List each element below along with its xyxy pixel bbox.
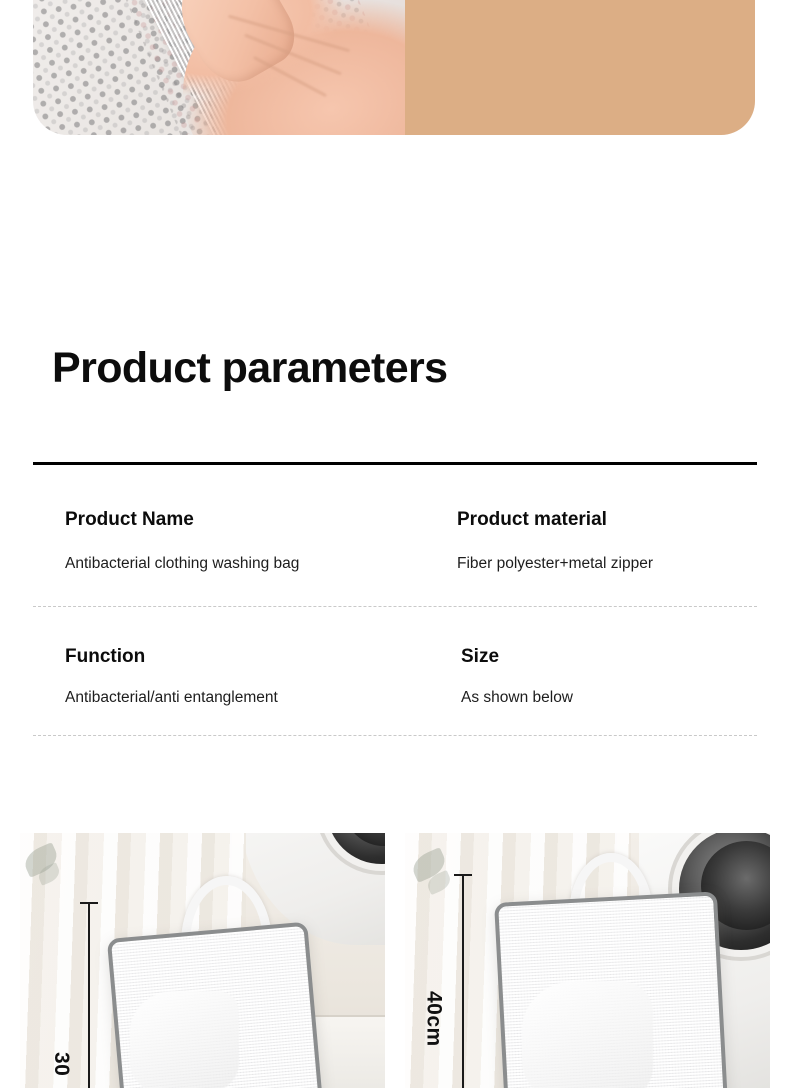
dimension-line-right: [462, 874, 464, 1088]
param-key-product-material: Product material: [457, 510, 757, 529]
param-value-size: As shown below: [461, 690, 757, 706]
dimension-label-40cm: 40cm: [421, 991, 445, 1047]
table-cell-product-name: Product Name Antibacterial clothing wash…: [33, 510, 445, 572]
product-photo-gallery: 30 40cm: [20, 833, 770, 1088]
param-value-function: Antibacterial/anti entanglement: [65, 690, 445, 706]
dimension-tick-left: [80, 902, 98, 904]
param-value-product-name: Antibacterial clothing washing bag: [65, 556, 445, 572]
table-cell-size: Size As shown below: [445, 647, 757, 706]
table-cell-product-material: Product material Fiber polyester+metal z…: [445, 510, 757, 572]
table-row: Product Name Antibacterial clothing wash…: [33, 465, 757, 606]
gallery-photo-left: 30: [20, 833, 385, 1088]
table-divider-2: [33, 735, 757, 736]
param-key-size: Size: [461, 647, 757, 666]
page-title: Product parameters: [52, 344, 447, 393]
param-key-function: Function: [65, 647, 445, 666]
param-key-product-name: Product Name: [65, 510, 445, 529]
table-cell-function: Function Antibacterial/anti entanglement: [33, 647, 445, 706]
dimension-line-left: [88, 902, 90, 1088]
hero-color-panel: [405, 0, 755, 135]
table-row: Function Antibacterial/anti entanglement…: [33, 607, 757, 736]
dimension-tick-right: [454, 874, 472, 876]
product-parameters-table: Product Name Antibacterial clothing wash…: [33, 462, 757, 736]
param-value-product-material: Fiber polyester+metal zipper: [457, 556, 757, 572]
hero-fabric-photo: [33, 0, 405, 135]
hero-image-strip: [33, 0, 755, 135]
bag-fabric-fold: [130, 991, 240, 1088]
bag-fabric-fold: [522, 981, 653, 1088]
dimension-label-30: 30: [49, 1052, 73, 1076]
gallery-photo-right: 40cm: [405, 833, 770, 1088]
